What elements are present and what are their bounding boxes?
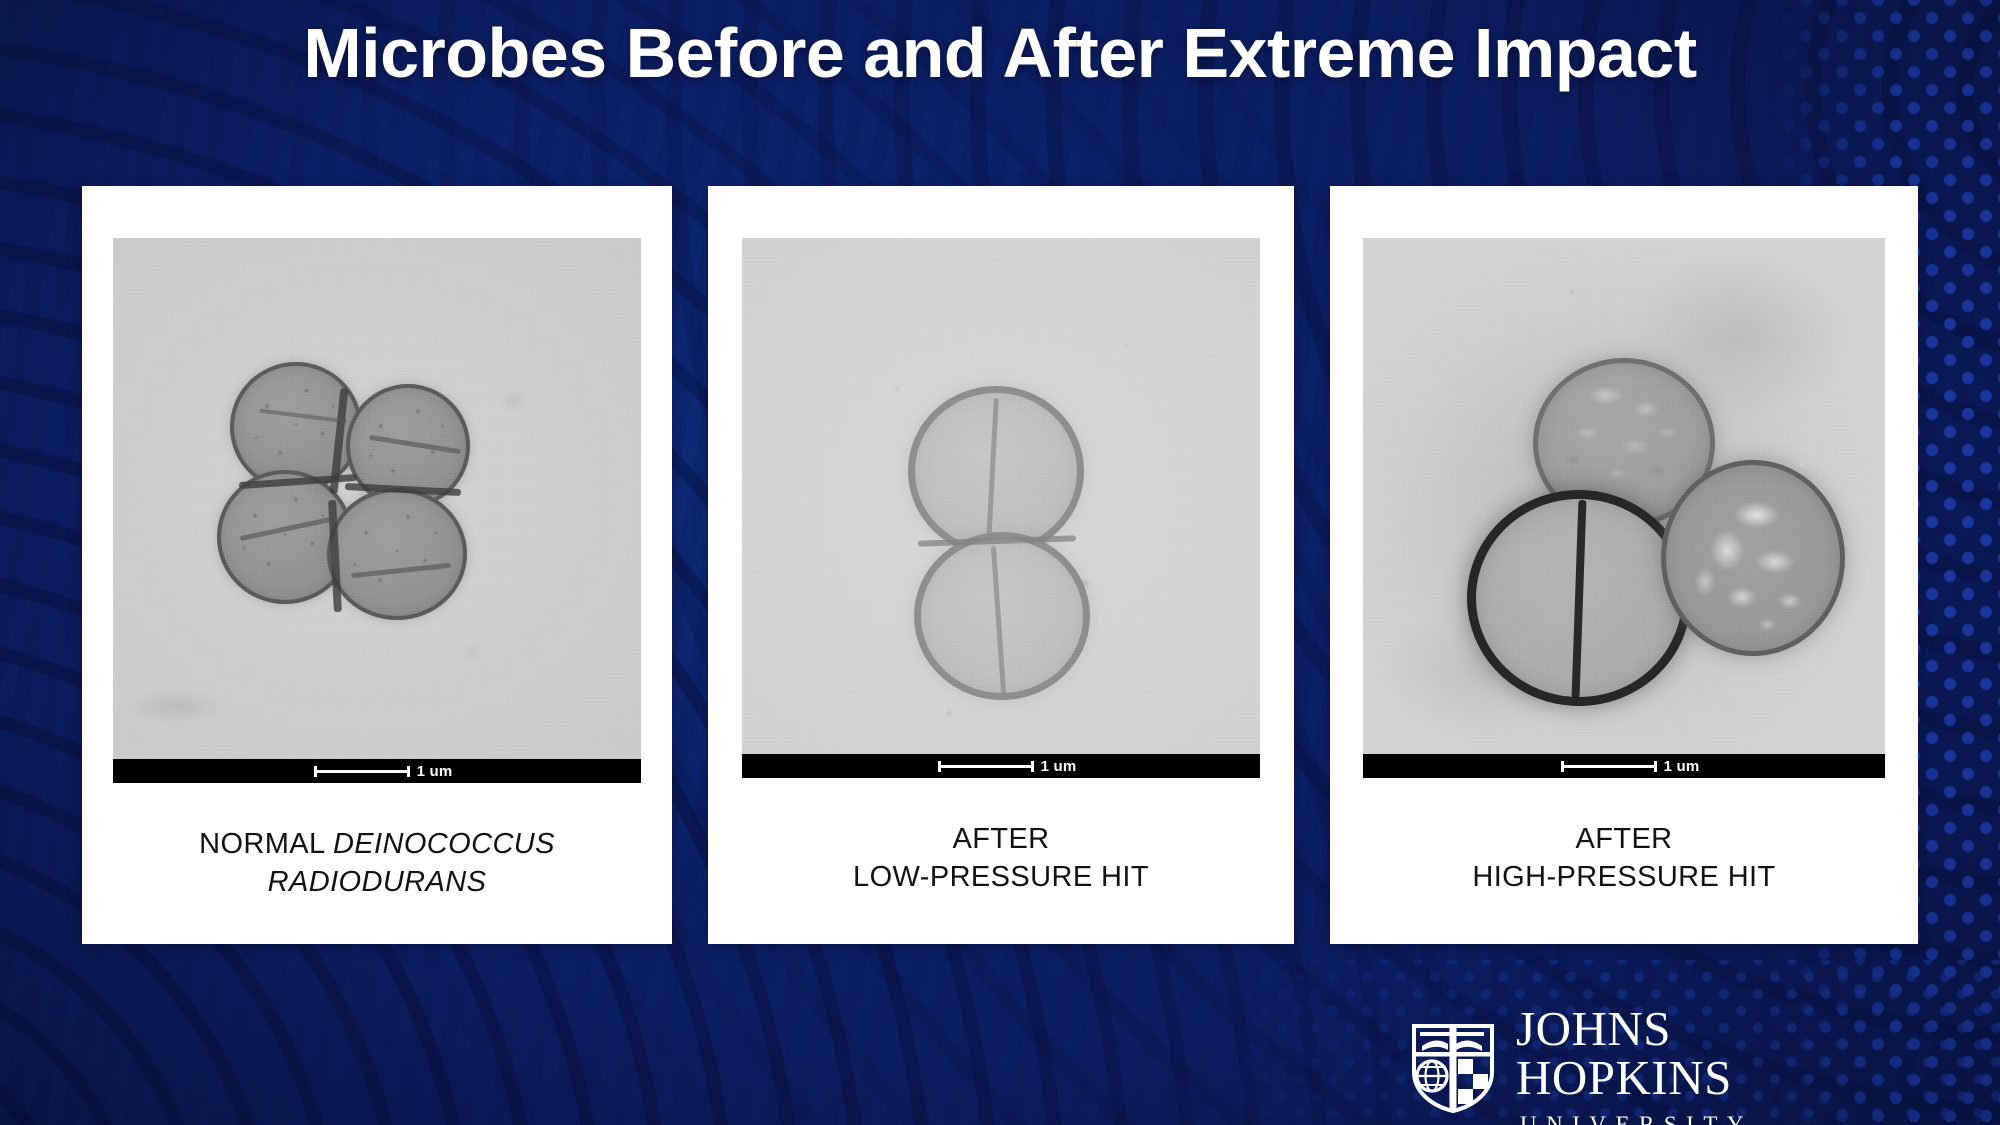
- caption-plain-text: NORMAL: [199, 828, 333, 860]
- slide-root: Microbes Before and After Extreme Impact: [0, 0, 2000, 1125]
- cell-bottom-right: [327, 488, 467, 620]
- jhu-shield-icon: [1410, 1022, 1496, 1119]
- page-title: Microbes Before and After Extreme Impact: [0, 14, 2000, 92]
- scale-bar-low-pressure: 1 um: [742, 754, 1260, 778]
- panel-card-high-pressure: 1 um AFTER HIGH-PRESSURE HIT: [1330, 186, 1918, 944]
- scale-bar-rule-icon: [938, 765, 1034, 768]
- panel-caption-low-pressure: AFTER LOW-PRESSURE HIT: [833, 820, 1169, 897]
- caption-italic-genus: DEINOCOCCUS: [333, 828, 555, 860]
- caption-line-1: AFTER: [1575, 823, 1672, 855]
- panel-caption-high-pressure: AFTER HIGH-PRESSURE HIT: [1452, 820, 1795, 897]
- cell-rupture-debris: [1661, 460, 1845, 656]
- caption-italic-species: RADIODURANS: [268, 866, 487, 898]
- micrograph-low-pressure: 1 um: [742, 238, 1260, 778]
- jhu-name: JOHNS HOPKINS: [1516, 1004, 1850, 1102]
- panel-card-low-pressure: 1 um AFTER LOW-PRESSURE HIT: [708, 186, 1294, 944]
- scale-bar-rule-icon: [314, 770, 410, 773]
- jhu-subtitle: UNIVERSITY: [1520, 1113, 1850, 1125]
- cell-ruptured: [1661, 460, 1845, 656]
- scale-bar-normal: 1 um: [113, 759, 641, 783]
- micrograph-field-high-pressure: [1363, 238, 1885, 778]
- caption-line-2: HIGH-PRESSURE HIT: [1472, 861, 1775, 893]
- scale-bar-label: 1 um: [417, 764, 453, 779]
- scale-bar-high-pressure: 1 um: [1363, 754, 1885, 778]
- scale-bar-rule-icon: [1561, 765, 1657, 768]
- panel-group: 1 um NORMAL DEINOCOCCUS RADIODURANS: [82, 186, 1918, 944]
- micrograph-high-pressure: 1 um: [1363, 238, 1885, 778]
- micrograph-field-normal: [113, 238, 641, 783]
- panel-caption-normal: NORMAL DEINOCOCCUS RADIODURANS: [179, 825, 575, 902]
- jhu-wordmark: JOHNS HOPKINS UNIVERSITY: [1516, 1004, 1850, 1125]
- jhu-logo: JOHNS HOPKINS UNIVERSITY: [1410, 1024, 1850, 1116]
- scale-bar-label: 1 um: [1664, 759, 1700, 774]
- caption-line-2: LOW-PRESSURE HIT: [853, 861, 1149, 893]
- cell-granules: [327, 488, 467, 620]
- caption-line-1: AFTER: [952, 823, 1049, 855]
- scale-bar-label: 1 um: [1041, 759, 1077, 774]
- micrograph-field-low-pressure: [742, 238, 1260, 778]
- micrograph-normal: 1 um: [113, 238, 641, 783]
- panel-card-normal: 1 um NORMAL DEINOCOCCUS RADIODURANS: [82, 186, 672, 944]
